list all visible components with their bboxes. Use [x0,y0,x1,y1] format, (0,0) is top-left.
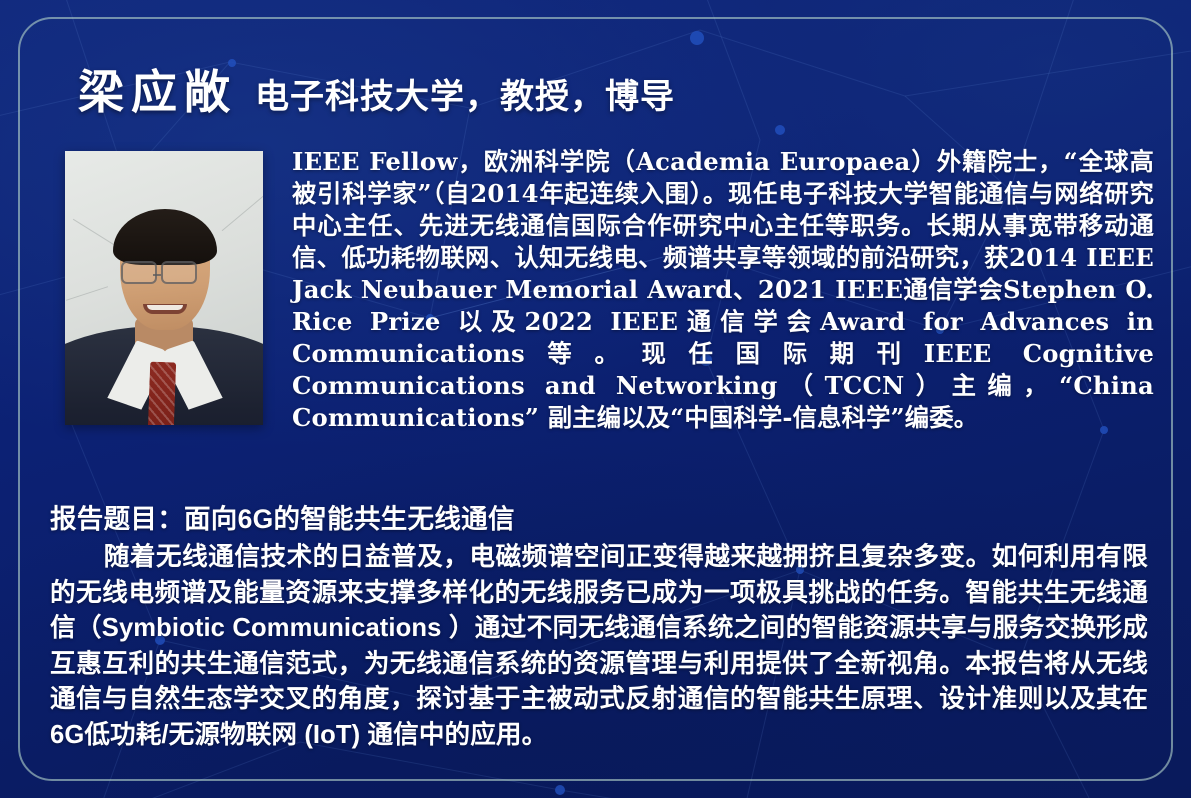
talk-title: 报告题目：面向6G的智能共生无线通信 [50,497,515,536]
portrait-necktie [148,362,176,425]
speaker-bio-text: IEEE Fellow，欧洲科学院（Academia Europaea）外籍院士… [292,146,1154,434]
portrait-teeth [147,305,183,310]
talk-abstract-text: 随着无线通信技术的日益普及，电磁频谱空间正变得越来越拥挤且复杂多变。如何利用有限… [50,540,1148,753]
speaker-portrait-photo [65,151,263,425]
speaker-name: 梁应敞 [78,56,237,122]
speaker-affiliation: 电子科技大学，教授，博导 [255,69,675,118]
speaker-slide: 梁应敞 电子科技大学，教授，博导 IEEE Fellow，欧洲科学院（Acade… [0,0,1191,798]
portrait-eyeglass-bridge [153,274,161,276]
speaker-header: 梁应敞 电子科技大学，教授，博导 [78,56,675,122]
portrait-eyeglass-right [161,261,197,284]
portrait-eyeglass-left [121,261,157,284]
